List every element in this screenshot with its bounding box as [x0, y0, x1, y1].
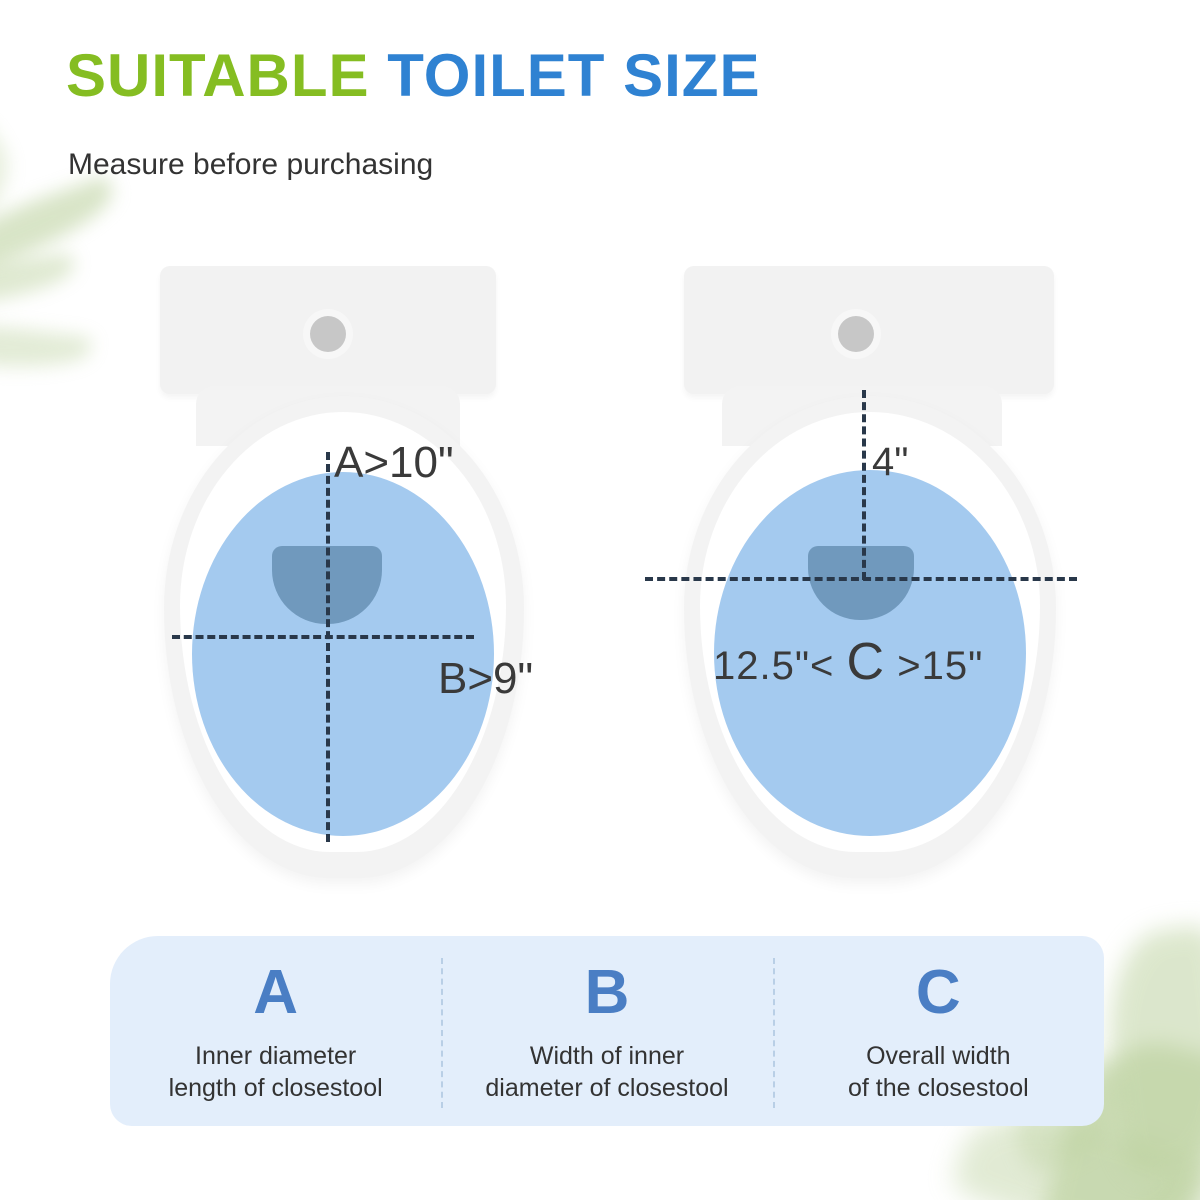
leaf-decoration-icon [1110, 1137, 1200, 1200]
infographic-page: SUITABLE TOILET SIZE Measure before purc… [0, 0, 1200, 1200]
dimension-label-a: A>10" [334, 438, 454, 488]
dimension-label-c-min: 12.5"< [713, 644, 834, 688]
legend-description-a: Inner diameter length of closestool [169, 1040, 383, 1104]
page-title-green: SUITABLE [66, 42, 370, 109]
page-title-blue: TOILET SIZE [387, 42, 760, 109]
legend-item-c: C Overall width of the closestool [773, 936, 1104, 1126]
dimension-label-c-max: >15" [897, 644, 983, 688]
leaf-decoration-icon [1096, 924, 1200, 1177]
dimension-line-b-horizontal [172, 635, 474, 639]
leaf-decoration-icon [0, 116, 32, 274]
legend-item-b: B Width of inner diameter of closestool [441, 936, 772, 1126]
legend-item-a: A Inner diameter length of closestool [110, 936, 441, 1126]
legend-letter-c: C [916, 962, 961, 1024]
dimension-line-c-horizontal [645, 577, 1077, 581]
legend-description-c: Overall width of the closestool [848, 1040, 1029, 1104]
dimension-line-4in-vertical [862, 390, 866, 580]
page-subtitle: Measure before purchasing [68, 148, 433, 182]
legend-panel: A Inner diameter length of closestool B … [110, 936, 1104, 1126]
leaf-decoration-icon [0, 253, 77, 311]
dimension-label-c: 12.5"< C >15" [713, 632, 983, 692]
flush-button-icon-right [838, 316, 874, 352]
flush-button-icon-left [310, 316, 346, 352]
legend-letter-a: A [253, 962, 298, 1024]
legend-letter-b: B [585, 962, 630, 1024]
dimension-label-4in: 4" [872, 440, 908, 485]
leaf-decoration-icon [0, 313, 92, 379]
page-title: SUITABLE TOILET SIZE [66, 46, 760, 106]
legend-description-b: Width of inner diameter of closestool [485, 1040, 728, 1104]
dimension-label-b: B>9" [438, 654, 533, 704]
dimension-label-c-letter: C [847, 633, 886, 691]
leaf-decoration-icon [0, 175, 123, 282]
dimension-line-a-vertical [326, 452, 330, 842]
